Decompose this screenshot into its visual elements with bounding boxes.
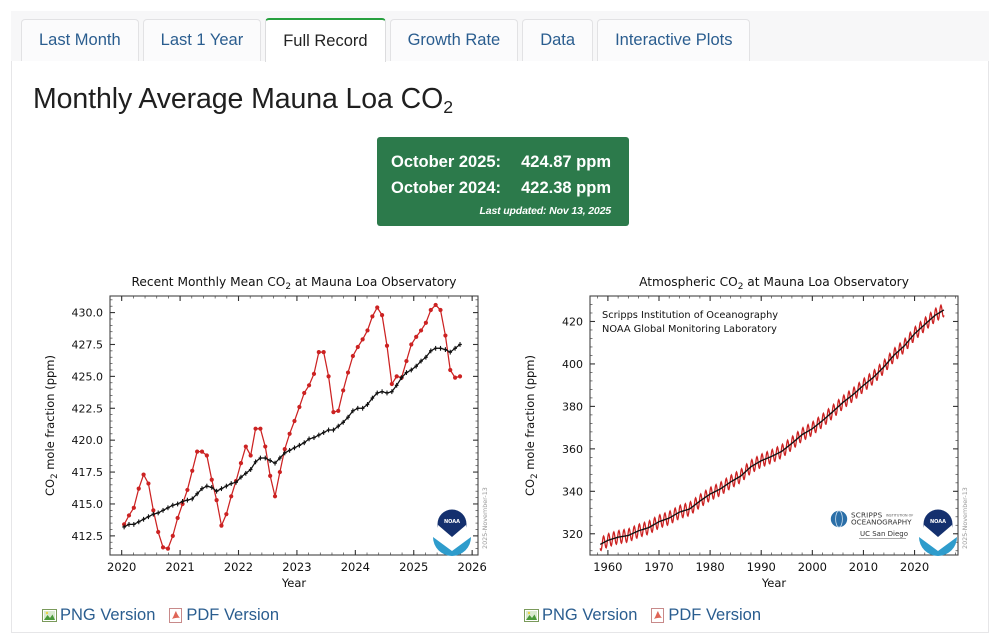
figure-full-record: Atmospheric CO2 at Mauna Loa Observatory… xyxy=(512,273,972,603)
y-tick-label: 430.0 xyxy=(72,307,104,320)
summary-last-updated: Last updated: Nov 13, 2025 xyxy=(391,205,615,217)
pdf-file-icon xyxy=(168,608,183,623)
x-axis-label: Year xyxy=(761,576,787,590)
x-tick-label: 2010 xyxy=(849,560,878,574)
chart-recent-monthly-mean: Recent Monthly Mean CO2 at Mauna Loa Obs… xyxy=(32,273,492,603)
page-title-subscript: 2 xyxy=(443,97,453,117)
image-file-icon xyxy=(42,608,57,623)
y-tick-label: 420 xyxy=(562,315,583,328)
tab-label: Data xyxy=(540,31,575,50)
summary-label-previous: October 2024: xyxy=(391,175,509,201)
tab-full-record[interactable]: Full Record xyxy=(265,18,385,62)
page-root: Last MonthLast 1 YearFull RecordGrowth R… xyxy=(0,0,1000,644)
summary-value-current: 424.87 ppm xyxy=(509,149,615,175)
tab-label: Last 1 Year xyxy=(161,31,244,50)
y-tick-label: 427.5 xyxy=(72,338,104,351)
page-title-text: Monthly Average Mauna Loa CO xyxy=(33,83,443,115)
x-axis-label: Year xyxy=(281,576,307,590)
y-tick-label: 340 xyxy=(562,485,583,498)
y-tick-label: 425.0 xyxy=(72,370,104,383)
x-tick-label: 2020 xyxy=(900,560,929,574)
svg-text:UC San Diego: UC San Diego xyxy=(860,530,908,538)
tab-last-month[interactable]: Last Month xyxy=(21,19,139,61)
y-tick-label: 412.5 xyxy=(72,530,104,543)
x-tick-label: 2024 xyxy=(341,560,370,574)
tab-bar: Last MonthLast 1 YearFull RecordGrowth R… xyxy=(11,11,989,62)
pdf-version-link-right[interactable]: PDF Version xyxy=(650,606,761,625)
chart-annotation-line: Scripps Institution of Oceanography xyxy=(602,310,778,321)
pdf-file-icon xyxy=(650,608,665,623)
png-version-link-right[interactable]: PNG Version xyxy=(524,606,637,625)
downloads-left: PNG Version PDF Version xyxy=(42,606,279,625)
png-version-label-left: PNG Version xyxy=(60,606,155,625)
tab-label: Last Month xyxy=(39,31,121,50)
y-tick-label: 380 xyxy=(562,400,583,413)
y-axis-label: CO2 mole fraction (ppm) xyxy=(523,355,540,496)
chart-annotation-line: NOAA Global Monitoring Laboratory xyxy=(602,324,777,335)
summary-row-previous: October 2024: 422.38 ppm xyxy=(391,175,615,201)
summary-value-previous: 422.38 ppm xyxy=(509,175,615,201)
tab-data[interactable]: Data xyxy=(522,19,593,61)
x-tick-label: 1960 xyxy=(593,560,622,574)
y-tick-label: 422.5 xyxy=(72,402,104,415)
tab-last-1-year[interactable]: Last 1 Year xyxy=(143,19,262,61)
y-tick-label: 320 xyxy=(562,528,583,541)
date-watermark: 2025-November-13 xyxy=(961,487,969,549)
tab-label: Growth Rate xyxy=(408,31,501,50)
y-tick-label: 415.0 xyxy=(72,498,104,511)
y-tick-label: 400 xyxy=(562,358,583,371)
image-file-icon xyxy=(524,608,539,623)
svg-text:NOAA: NOAA xyxy=(930,519,946,525)
x-tick-label: 1970 xyxy=(644,560,673,574)
x-tick-label: 2020 xyxy=(107,560,136,574)
x-tick-label: 1980 xyxy=(695,560,724,574)
tab-panel-full-record: Monthly Average Mauna Loa CO2 October 20… xyxy=(11,61,989,633)
plot-frame xyxy=(110,296,478,555)
chart-title: Recent Monthly Mean CO2 at Mauna Loa Obs… xyxy=(131,275,456,292)
tab-label: Full Record xyxy=(283,32,367,51)
chart-title: Atmospheric CO2 at Mauna Loa Observatory xyxy=(639,275,909,292)
tab-interactive-plots[interactable]: Interactive Plots xyxy=(597,19,750,61)
tab-label: Interactive Plots xyxy=(615,31,732,50)
figure-recent-monthly-mean: Recent Monthly Mean CO2 at Mauna Loa Obs… xyxy=(32,273,492,603)
y-tick-label: 360 xyxy=(562,443,583,456)
chart-atmospheric-co2-full-record: Atmospheric CO2 at Mauna Loa Observatory… xyxy=(512,273,972,603)
y-axis-label: CO2 mole fraction (ppm) xyxy=(43,355,60,496)
summary-row-current: October 2025: 424.87 ppm xyxy=(391,149,615,175)
x-tick-label: 2025 xyxy=(399,560,428,574)
png-version-label-right: PNG Version xyxy=(542,606,637,625)
svg-text:OCEANOGRAPHY: OCEANOGRAPHY xyxy=(851,518,912,527)
y-tick-label: 417.5 xyxy=(72,466,104,479)
page-title: Monthly Average Mauna Loa CO2 xyxy=(33,83,453,116)
pdf-version-label-right: PDF Version xyxy=(668,606,761,625)
svg-text:NOAA: NOAA xyxy=(444,519,460,525)
pdf-version-link-left[interactable]: PDF Version xyxy=(168,606,279,625)
png-version-link-left[interactable]: PNG Version xyxy=(42,606,155,625)
pdf-version-label-left: PDF Version xyxy=(186,606,279,625)
co2-summary-box: October 2025: 424.87 ppm October 2024: 4… xyxy=(377,137,629,226)
x-tick-label: 2026 xyxy=(458,560,487,574)
downloads-right: PNG Version PDF Version xyxy=(524,606,761,625)
x-tick-label: 2000 xyxy=(798,560,827,574)
x-tick-label: 1990 xyxy=(747,560,776,574)
y-tick-label: 420.0 xyxy=(72,434,104,447)
x-tick-label: 2022 xyxy=(224,560,253,574)
x-tick-label: 2023 xyxy=(282,560,311,574)
summary-label-current: October 2025: xyxy=(391,149,509,175)
x-tick-label: 2021 xyxy=(165,560,194,574)
tab-growth-rate[interactable]: Growth Rate xyxy=(390,19,519,61)
date-watermark: 2025-November-13 xyxy=(481,487,489,549)
